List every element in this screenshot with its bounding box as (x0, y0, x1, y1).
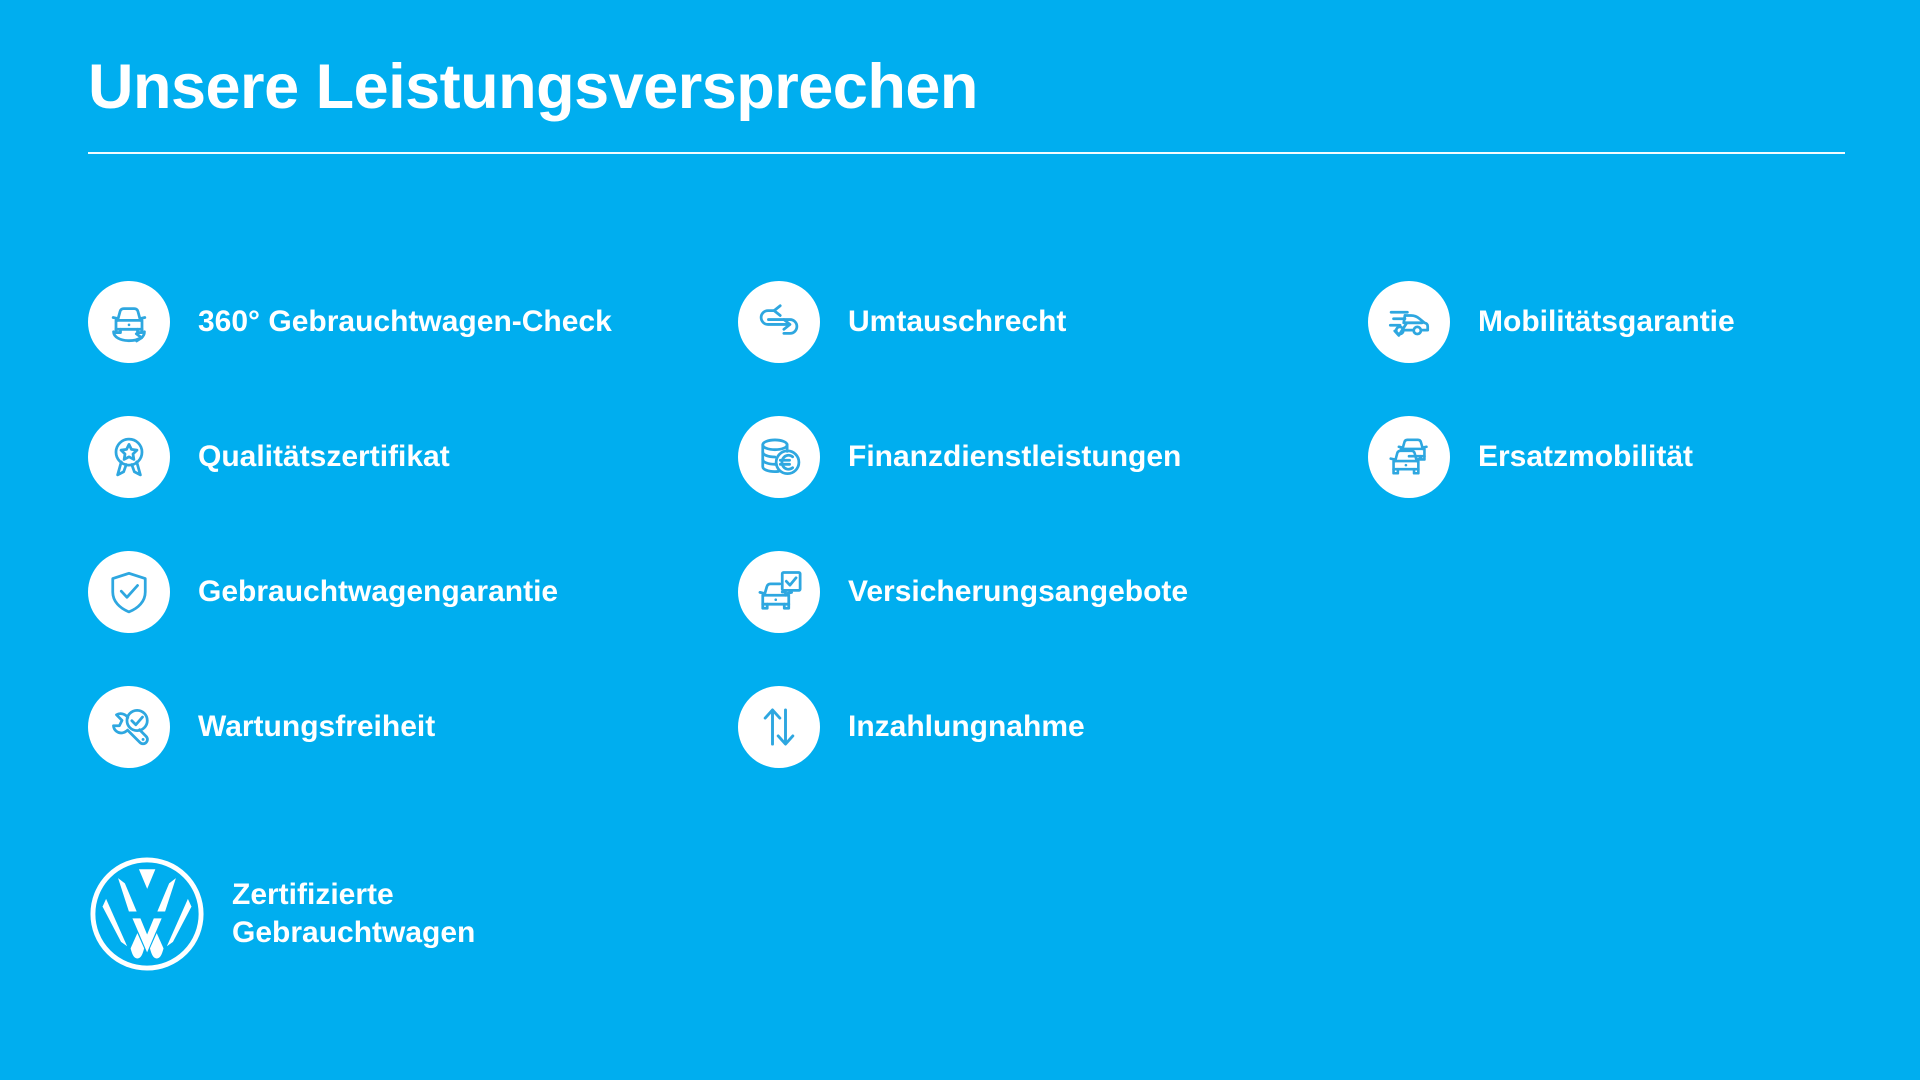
car-360-check-icon (88, 281, 170, 363)
feature-column-2: Umtauschrecht Finanz (738, 272, 1338, 777)
coins-euro-icon (738, 416, 820, 498)
feature-label: Umtauschrecht (848, 305, 1066, 340)
page-title: Unsere Leistungsversprechen (88, 54, 1845, 120)
feature-label: Gebrauchtwagengarantie (198, 575, 558, 610)
feature-item-wartungsfreiheit[interactable]: Wartungsfreiheit (88, 677, 688, 777)
feature-item-finanzdienstleistungen[interactable]: Finanzdienstleistungen (738, 407, 1338, 507)
header: Unsere Leistungsversprechen (88, 54, 1845, 154)
feature-item-mobilitaetsgarantie[interactable]: Mobilitätsgarantie (1368, 272, 1908, 372)
brand-text-line-2: Gebrauchtwagen (232, 914, 475, 952)
brand-text-line-1: Zertifizierte (232, 876, 475, 914)
feature-item-versicherungsangebote[interactable]: Versicherungsangebote (738, 542, 1338, 642)
feature-label: Finanzdienstleistungen (848, 440, 1181, 475)
feature-label: Wartungsfreiheit (198, 710, 435, 745)
feature-label: 360° Gebrauchtwagen-Check (198, 305, 612, 340)
car-checkbox-icon (738, 551, 820, 633)
feature-item-umtauschrecht[interactable]: Umtauschrecht (738, 272, 1338, 372)
feature-label: Qualitätszertifikat (198, 440, 450, 475)
feature-label: Versicherungsangebote (848, 575, 1188, 610)
feature-item-ersatzmobilitaet[interactable]: Ersatzmobilität (1368, 407, 1908, 507)
feature-label: Ersatzmobilität (1478, 440, 1693, 475)
car-speed-check-icon (1368, 281, 1450, 363)
feature-item-qualitaetszertifikat[interactable]: Qualitätszertifikat (88, 407, 688, 507)
volkswagen-logo (88, 855, 206, 973)
brand-footer: Zertifizierte Gebrauchtwagen (88, 855, 475, 973)
brand-text: Zertifizierte Gebrauchtwagen (232, 876, 475, 953)
feature-columns: 360° Gebrauchtwagen-Check Qualitätszerti… (0, 272, 1920, 792)
feature-item-inzahlungnahme[interactable]: Inzahlungnahme (738, 677, 1338, 777)
shield-check-icon (88, 551, 170, 633)
feature-column-1: 360° Gebrauchtwagen-Check Qualitätszerti… (88, 272, 688, 777)
slide-canvas: Unsere Leistungsversprechen (0, 0, 1920, 1080)
exchange-arrows-icon (738, 281, 820, 363)
two-cars-icon (1368, 416, 1450, 498)
wrench-check-icon (88, 686, 170, 768)
title-divider (88, 152, 1845, 154)
feature-column-3: Mobilitätsgarantie (1368, 272, 1908, 507)
feature-label: Mobilitätsgarantie (1478, 305, 1735, 340)
feature-item-gebrauchtwagengarantie[interactable]: Gebrauchtwagengarantie (88, 542, 688, 642)
up-down-arrows-icon (738, 686, 820, 768)
feature-label: Inzahlungnahme (848, 710, 1085, 745)
feature-item-360-gebrauchtwagen-check[interactable]: 360° Gebrauchtwagen-Check (88, 272, 688, 372)
award-medal-icon (88, 416, 170, 498)
